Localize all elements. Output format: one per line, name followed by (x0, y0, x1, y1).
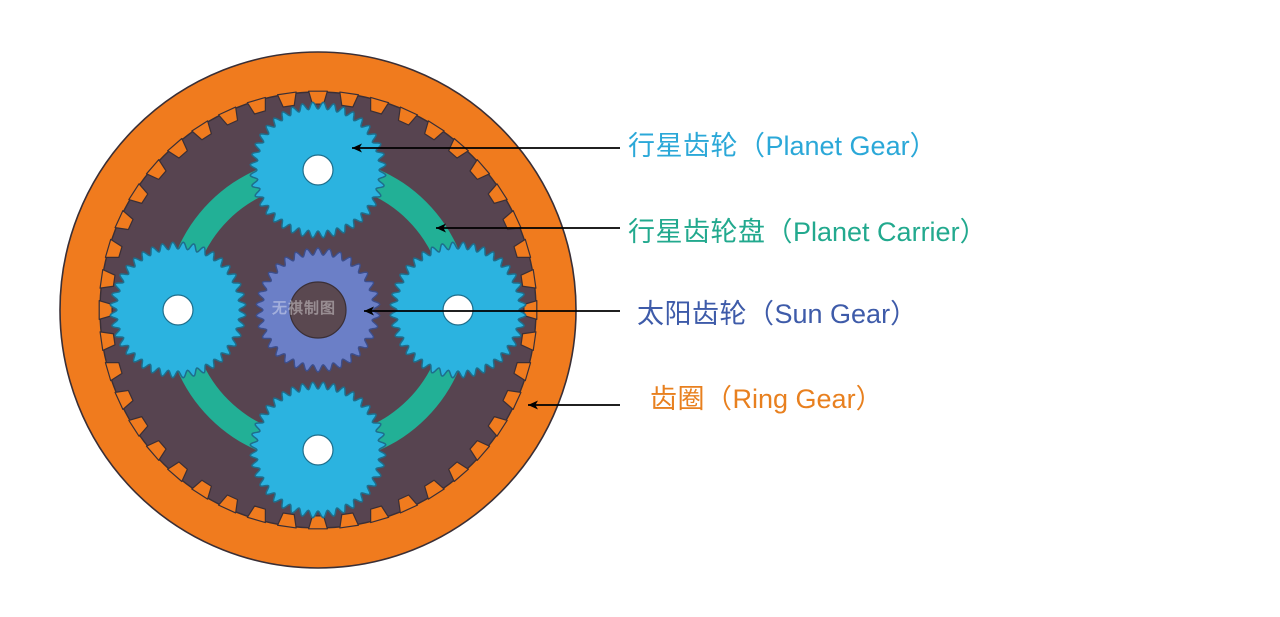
label-ring-gear-en: Ring Gear (733, 384, 856, 414)
label-sun-gear: 太阳齿轮（Sun Gear） (637, 301, 918, 328)
sun-gear-hub (290, 282, 346, 338)
planet-gear-bore (303, 435, 333, 465)
gear-assembly (60, 52, 576, 568)
label-ring-gear-bracket-open: （ (705, 384, 733, 414)
label-planet-carrier-bracket-open: （ (766, 217, 794, 247)
label-planet-gear-bracket-close: ） (910, 131, 938, 161)
label-sun-gear-bracket-close: ） (890, 299, 918, 329)
label-planet-carrier-en: Planet Carrier (793, 217, 960, 247)
label-sun-gear-en: Sun Gear (775, 299, 891, 329)
label-sun-gear-zh: 太阳齿轮 (637, 299, 747, 329)
planet-gear-bore (163, 295, 193, 325)
planet-gear-bore (303, 155, 333, 185)
label-planet-gear-bracket-open: （ (738, 131, 766, 161)
label-ring-gear-bracket-close: ） (856, 384, 884, 414)
label-planet-gear-zh: 行星齿轮 (628, 131, 738, 161)
label-planet-gear: 行星齿轮（Planet Gear） (628, 133, 937, 160)
diagram-canvas: 行星齿轮（Planet Gear） 行星齿轮盘（Planet Carrier） … (0, 0, 1280, 617)
label-sun-gear-bracket-open: （ (747, 299, 775, 329)
label-planet-gear-en: Planet Gear (766, 131, 910, 161)
label-planet-carrier-bracket-close: ） (960, 217, 988, 247)
label-ring-gear-zh: 齿圈 (650, 384, 705, 414)
label-ring-gear: 齿圈（Ring Gear） (650, 386, 883, 413)
label-planet-carrier: 行星齿轮盘（Planet Carrier） (628, 219, 987, 246)
label-planet-carrier-zh: 行星齿轮盘 (628, 217, 766, 247)
planet-gear-bore (443, 295, 473, 325)
